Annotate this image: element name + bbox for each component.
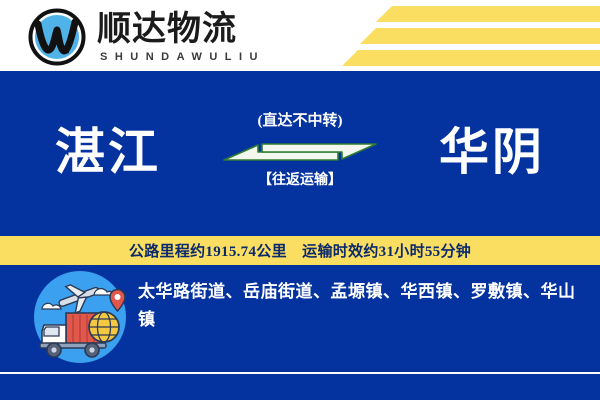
brand-lockup: 顺达物流 SHUNDAWULIU (26, 6, 265, 68)
header: 顺达物流 SHUNDAWULIU (0, 0, 600, 73)
direct-service-note: (直达不中转) (218, 111, 382, 131)
brand-name-cn: 顺达物流 (97, 11, 265, 49)
roundtrip-note: 【往返运输】 (218, 172, 382, 190)
poster-body: 湛江 (直达不中转) 【往返运输】 华阴 公路里程约1915.74公里 运输时效… (0, 73, 600, 400)
brand-text-block: 顺达物流 SHUNDAWULIU (97, 9, 265, 65)
decorative-stripes-icon (330, 0, 600, 73)
bottom-strip (0, 374, 600, 400)
distance-duration-text: 公路里程约1915.74公里 运输时效约31小时55分钟 (129, 240, 471, 261)
logistics-icon (32, 269, 128, 365)
distance-duration-band: 公路里程约1915.74公里 运输时效约31小时55分钟 (0, 236, 600, 265)
origin-city: 湛江 (55, 123, 161, 181)
destination-city: 华阴 (439, 123, 545, 181)
logistics-route-poster: 顺达物流 SHUNDAWULIU 湛江 (直达不中转) (0, 0, 600, 400)
double-headed-arrow-icon (218, 135, 382, 169)
brand-name-en: SHUNDAWULIU (97, 49, 265, 65)
route-middle: (直达不中转) 【往返运输】 (218, 111, 382, 190)
company-logo-icon (26, 6, 88, 68)
coverage-section: 太华路街道、岳庙街道、孟塬镇、华西镇、罗敷镇、华山镇 (0, 265, 600, 372)
coverage-areas-text: 太华路街道、岳庙街道、孟塬镇、华西镇、罗敷镇、华山镇 (138, 278, 586, 334)
route-section: 湛江 (直达不中转) 【往返运输】 华阴 (0, 73, 600, 236)
